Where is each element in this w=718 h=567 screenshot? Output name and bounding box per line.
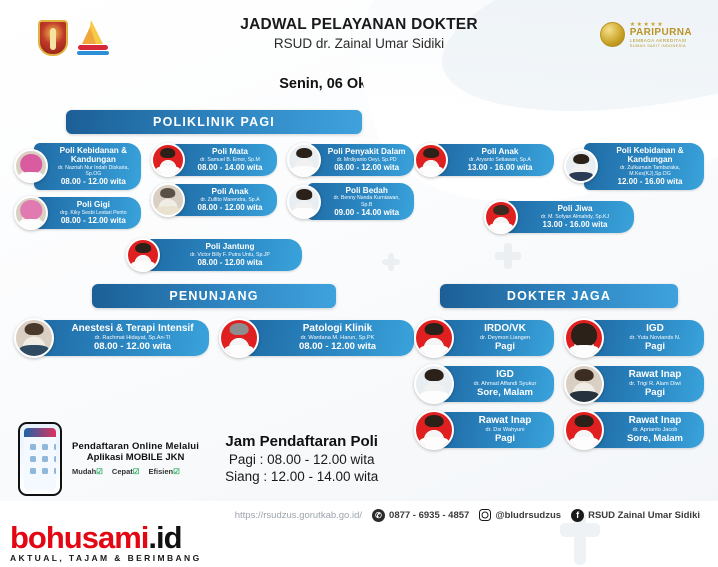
tag-efisien: Efisien☑ xyxy=(148,467,179,476)
doctor-card[interactable]: Rawat Inap dr. Trigi R. Alam Diwi Pagi xyxy=(564,364,704,404)
doctor-name: dr. Mrdiyanto Oeyi, Sp.PD xyxy=(327,157,406,163)
banner-penunjang: PENUNJANG xyxy=(92,284,336,308)
avatar xyxy=(151,183,185,217)
doctor-card[interactable]: Poli Anak dr. Zulfito Marendra, Sp.A 08.… xyxy=(151,183,278,217)
doctor-name: dr. Yuta Noviands N. xyxy=(614,335,696,342)
doctor-card[interactable]: IRDO/VK dr. Deymon Liangen Pagi xyxy=(414,318,554,358)
decorative-plus-icon xyxy=(495,243,521,269)
poli-name: Poli Anak xyxy=(454,147,546,156)
instagram-handle: @bludrsudzus xyxy=(495,510,561,521)
website-url: https://rsudzus.gorutkab.go.id/ xyxy=(235,510,362,521)
doctor-card[interactable]: Poli Bedah dr. Benny Nanda Kurniawan, Sp… xyxy=(287,183,414,220)
bohusami-brand-logo: bohusami.id AKTUAL, TAJAM & BERIMBANG xyxy=(10,523,202,563)
service-time: 12.00 - 16.00 wita xyxy=(604,177,696,187)
check-icon: ☑ xyxy=(133,467,140,476)
poli-name: Patologi Klinik xyxy=(269,323,406,335)
banner-dokter-jaga: DOKTER JAGA xyxy=(440,284,678,308)
accreditation-line2: LEMBAGA AKREDITASI xyxy=(630,39,692,44)
poster-root: JADWAL PELAYANAN DOKTER RSUD dr. Zainal … xyxy=(0,0,718,567)
doctor-card[interactable]: Poli Kebidanan & Kandungan dr. Zulkarnai… xyxy=(564,143,704,190)
doctor-name: dr. Nazriah Nur Indah Diskaria, Sp.OG xyxy=(54,165,133,177)
poli-name: Poli Mata xyxy=(191,147,270,156)
doctor-card[interactable]: IGD dr. Ahmad Affandi Syukur Sore, Malam xyxy=(414,364,554,404)
avatar xyxy=(14,318,54,358)
brand-tagline: AKTUAL, TAJAM & BERIMBANG xyxy=(10,553,202,563)
doctor-name: dr. Victor Billy F. Putra Untu, Sp.JP xyxy=(166,252,294,258)
avatar xyxy=(484,200,518,234)
doctor-name: dr. Deymon Liangen xyxy=(464,335,546,342)
check-icon: ☑ xyxy=(96,467,103,476)
poli-name: Poli Anak xyxy=(191,187,270,196)
service-time: Pagi xyxy=(464,341,546,352)
poli-name: Anestesi & Terapi Intensif xyxy=(64,323,201,335)
poli-name: IGD xyxy=(614,323,696,335)
doctor-name: dr. M. Sofyan Almahdy, Sp.KJ xyxy=(524,214,626,220)
hours-afternoon: Siang : 12.00 - 14.00 wita xyxy=(225,469,378,484)
avatar xyxy=(414,410,454,450)
tag-cepat: Cepat☑ xyxy=(112,467,140,476)
doctor-name: dr. Benny Nanda Kurniawan, Sp.B xyxy=(327,195,406,207)
poliklinik-pagi-section: POLIKLINIK PAGI Poli Kebidanan & Kandung… xyxy=(14,110,414,278)
brand-wordmark: bohusami.id xyxy=(10,523,202,552)
service-time: 13.00 - 16.00 wita xyxy=(524,220,626,230)
avatar xyxy=(219,318,259,358)
medal-icon xyxy=(600,22,625,47)
poli-name: Poli Penyakit Dalam xyxy=(327,147,406,156)
decorative-plus-icon xyxy=(382,253,400,271)
poli-name: Poli Jiwa xyxy=(524,204,626,213)
poli-name: Poli Kebidanan & Kandungan xyxy=(604,146,696,165)
doctor-name: drg. Kiky Sesbi Lestari Pento xyxy=(54,210,133,216)
doctor-card[interactable]: Anestesi & Terapi Intensif dr. Rachmat H… xyxy=(14,318,209,358)
banner-poliklinik-pagi: POLIKLINIK PAGI xyxy=(66,110,362,134)
check-icon: ☑ xyxy=(173,467,180,476)
doctor-card[interactable]: Poli Kebidanan & Kandungan dr. Nazriah N… xyxy=(14,143,141,190)
poli-name: Poli Kebidanan & Kandungan xyxy=(54,146,133,165)
poli-name: Poli Bedah xyxy=(327,186,406,195)
phone-icon: ✆ xyxy=(372,509,385,522)
service-time: 08.00 - 12.00 wita xyxy=(269,341,406,352)
avatar xyxy=(564,410,604,450)
doctor-card[interactable]: Poli Penyakit Dalam dr. Mrdiyanto Oeyi, … xyxy=(287,143,414,177)
poli-name: IGD xyxy=(464,369,546,381)
avatar xyxy=(414,143,448,177)
service-time: 13.00 - 16.00 wita xyxy=(454,163,546,173)
service-time: Pagi xyxy=(614,341,696,352)
accreditation-line3: RUMAH SAKIT INDONESIA xyxy=(630,44,692,48)
avatar xyxy=(564,364,604,404)
doctor-card[interactable]: Poli Gigi drg. Kiky Sesbi Lestari Pento … xyxy=(14,196,141,230)
service-time: 08.00 - 14.00 wita xyxy=(191,163,270,173)
service-time: Sore, Malam xyxy=(464,387,546,398)
doctor-card[interactable]: Poli Anak dr. Aryanto Setiawan, Sp.A 13.… xyxy=(414,143,554,177)
hours-title: Jam Pendaftaran Poli xyxy=(225,433,378,450)
service-time: Pagi xyxy=(614,387,696,398)
poli-name: Poli Jantung xyxy=(166,242,294,251)
avatar xyxy=(414,318,454,358)
phone-number: 0877 - 6935 - 4857 xyxy=(389,510,469,521)
avatar xyxy=(151,143,185,177)
page-footer: https://rsudzus.gorutkab.go.id/ ✆ 0877 -… xyxy=(0,501,718,567)
instagram-icon xyxy=(479,509,491,521)
online-line-2: Aplikasi MOBILE JKN xyxy=(72,452,199,463)
hours-morning: Pagi : 08.00 - 12.00 wita xyxy=(225,452,378,467)
avatar xyxy=(126,238,160,272)
phone-item[interactable]: ✆ 0877 - 6935 - 4857 xyxy=(372,509,469,522)
service-time: 08.00 - 12.00 wita xyxy=(327,163,406,173)
service-time: 08.00 - 12.00 wita xyxy=(54,216,133,226)
online-line-1: Pendaftaran Online Melalui xyxy=(72,441,199,452)
poli-name: Rawat Inap xyxy=(614,369,696,381)
mobile-jkn-phone-icon xyxy=(18,422,62,496)
facebook-item[interactable]: f RSUD Zainal Umar Sidiki xyxy=(571,509,700,522)
service-time: 08.00 - 12.00 wita xyxy=(54,177,133,187)
page-header: JADWAL PELAYANAN DOKTER RSUD dr. Zainal … xyxy=(0,0,718,66)
doctor-name: dr. Samuel B. Emor, Sp.M xyxy=(191,157,270,163)
accreditation-badge: ★★★★★ PARIPURNA LEMBAGA AKREDITASI RUMAH… xyxy=(600,22,692,48)
doctor-name: dr. Zulkarnain Tamburaka, M.Kes(KJ),Sp.O… xyxy=(604,165,696,177)
registration-hours: Jam Pendaftaran Poli Pagi : 08.00 - 12.0… xyxy=(225,433,378,484)
doctor-card[interactable]: Patologi Klinik dr. Wardana M. Harun, Sp… xyxy=(219,318,414,358)
doctor-name: dr. Aryanto Setiawan, Sp.A xyxy=(454,157,546,163)
doctor-name: dr. Rachmat Hidayat, Sp.An-TI xyxy=(64,335,201,342)
doctor-name: dr. Zulfito Marendra, Sp.A xyxy=(191,197,270,203)
avatar xyxy=(564,149,598,183)
poli-name: IRDO/VK xyxy=(464,323,546,335)
doctor-name: dr. Trigi R. Alam Diwi xyxy=(614,381,696,388)
instagram-item[interactable]: @bludrsudzus xyxy=(479,509,561,521)
doctor-card[interactable]: Poli Mata dr. Samuel B. Emor, Sp.M 08.00… xyxy=(151,143,278,177)
doctor-name: dr. Ahmad Affandi Syukur xyxy=(464,381,546,388)
avatar xyxy=(287,143,321,177)
doctor-name: dr. Wardana M. Harun, Sp.PK xyxy=(269,335,406,342)
doctor-card[interactable]: Poli Jiwa dr. M. Sofyan Almahdy, Sp.KJ 1… xyxy=(484,200,634,234)
avatar xyxy=(287,185,321,219)
service-time: 09.00 - 14.00 wita xyxy=(327,208,406,218)
service-time: 08.00 - 12.00 wita xyxy=(64,341,201,352)
online-registration-text: Pendaftaran Online Melalui Aplikasi MOBI… xyxy=(72,441,199,476)
service-time: 08.00 - 12.00 wita xyxy=(191,203,270,213)
avatar xyxy=(14,149,48,183)
facebook-icon: f xyxy=(571,509,584,522)
avatar xyxy=(414,364,454,404)
poli-name: Poli Gigi xyxy=(54,200,133,209)
website-item[interactable]: https://rsudzus.gorutkab.go.id/ xyxy=(235,510,362,521)
doctor-card[interactable]: Poli Jantung dr. Victor Billy F. Putra U… xyxy=(126,238,302,272)
tag-mudah: Mudah☑ xyxy=(72,467,103,476)
registration-info: Pendaftaran Online Melalui Aplikasi MOBI… xyxy=(0,416,718,501)
facebook-page: RSUD Zainal Umar Sidiki xyxy=(588,510,700,521)
service-time: 08.00 - 12.00 wita xyxy=(166,258,294,268)
doctor-card[interactable]: IGD dr. Yuta Noviands N. Pagi xyxy=(564,318,704,358)
avatar xyxy=(14,196,48,230)
avatar xyxy=(564,318,604,358)
